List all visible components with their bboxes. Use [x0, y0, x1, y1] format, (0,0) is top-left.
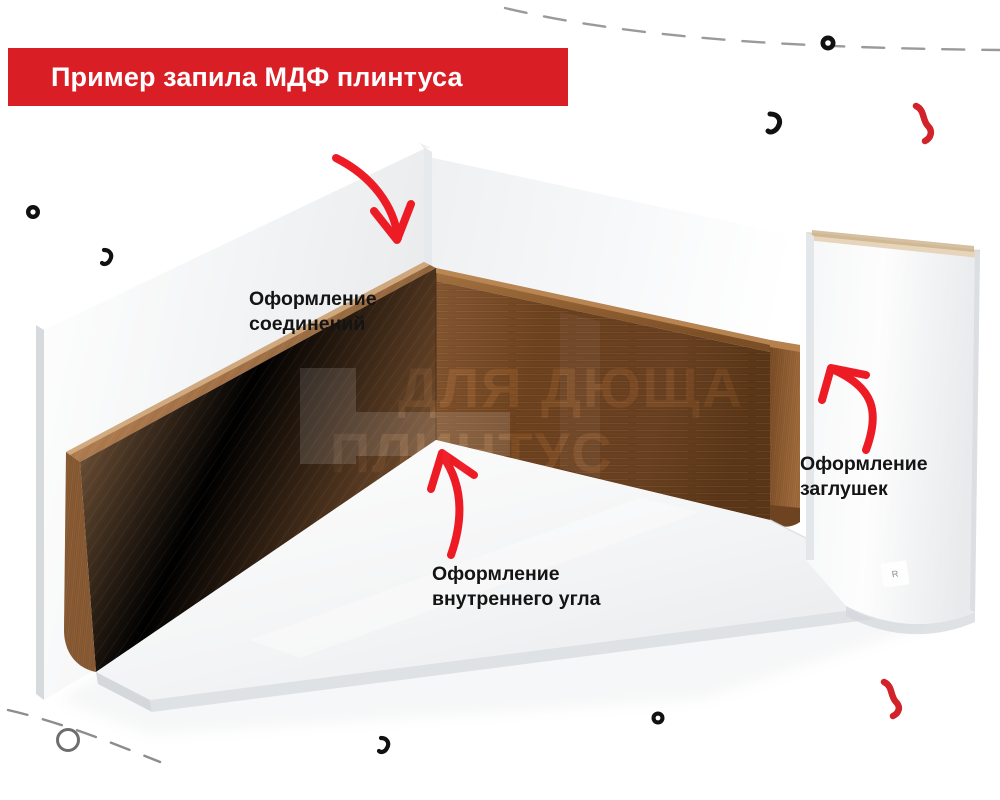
callout-label-joints: Оформление соединений [249, 287, 377, 337]
skirting-corner-illustration [0, 0, 1000, 800]
skirting-right [770, 340, 800, 527]
callout-label-inner-corner: Оформление внутреннего угла [432, 562, 600, 612]
callout-label-end-caps: Оформление заглушек [800, 452, 928, 502]
product-sticker: R [880, 560, 909, 587]
title-banner: Пример запила МДФ плинтуса [8, 48, 568, 106]
promo-image: ДЛЯ ДЮЩА ПЛИНТУС R Пример запила МДФ пли… [0, 0, 1000, 800]
banner-title: Пример запила МДФ плинтуса [51, 64, 463, 91]
